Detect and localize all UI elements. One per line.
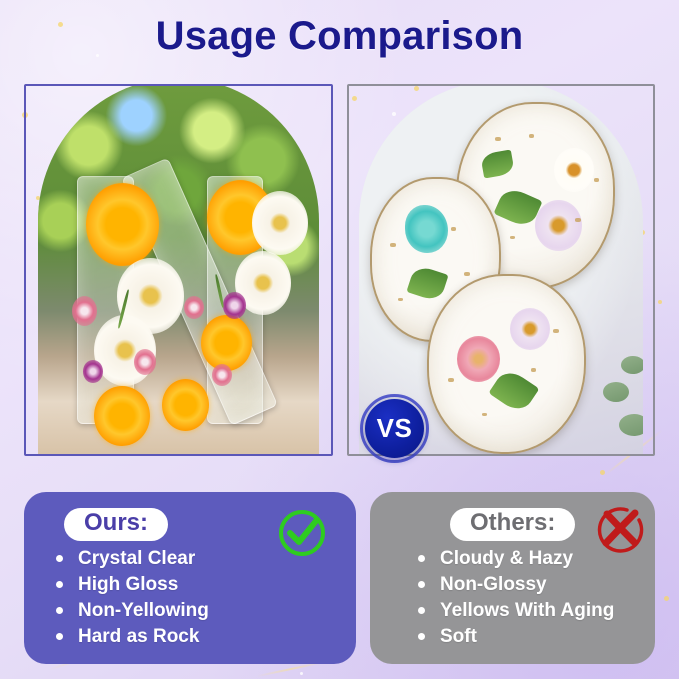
resin-letter-n <box>38 86 319 454</box>
bullet-icon <box>56 555 63 562</box>
list-item: Yellows With Aging <box>418 601 637 620</box>
bullet-icon <box>56 581 63 588</box>
ours-feature-list: Crystal Clear High Gloss Non-Yellowing H… <box>42 549 338 646</box>
resin-coaster <box>427 274 586 454</box>
ours-feature-label: Non-Yellowing <box>78 601 209 620</box>
others-feature-label: Yellows With Aging <box>440 601 614 620</box>
others-heading: Others: <box>450 508 575 541</box>
red-cross-icon <box>591 500 647 556</box>
others-feature-label: Cloudy & Hazy <box>440 549 573 568</box>
others-feature-label: Non-Glossy <box>440 575 547 594</box>
ours-heading: Ours: <box>64 508 168 541</box>
list-item: Hard as Rock <box>56 627 338 646</box>
left-product-photo <box>24 84 333 456</box>
photo-comparison-row: VS <box>24 84 655 456</box>
left-photo-arch <box>38 86 319 454</box>
bullet-icon <box>418 555 425 562</box>
list-item: Non-Yellowing <box>56 601 338 620</box>
green-check-icon <box>274 504 330 560</box>
feature-comparison-cards: Ours: Crystal Clear High Gloss Non-Yello… <box>24 492 655 664</box>
others-feature-list: Cloudy & Hazy Non-Glossy Yellows With Ag… <box>388 549 637 646</box>
ours-card: Ours: Crystal Clear High Gloss Non-Yello… <box>24 492 356 664</box>
list-item: High Gloss <box>56 575 338 594</box>
eucalyptus-sprig <box>619 414 643 436</box>
bullet-icon <box>56 633 63 640</box>
vs-label: VS <box>365 399 424 458</box>
list-item: Soft <box>418 627 637 646</box>
ours-feature-label: Hard as Rock <box>78 627 199 646</box>
bullet-icon <box>418 633 425 640</box>
vs-badge: VS <box>360 394 429 463</box>
others-feature-label: Soft <box>440 627 477 646</box>
list-item: Non-Glossy <box>418 575 637 594</box>
promo-comparison-graphic: Usage Comparison <box>0 0 679 679</box>
ours-feature-label: High Gloss <box>78 575 178 594</box>
ours-feature-label: Crystal Clear <box>78 549 195 568</box>
eucalyptus-sprig <box>603 382 629 402</box>
bullet-icon <box>418 607 425 614</box>
eucalyptus-sprig <box>621 356 643 374</box>
page-title: Usage Comparison <box>0 14 679 59</box>
bullet-icon <box>418 581 425 588</box>
bullet-icon <box>56 607 63 614</box>
others-card: Others: Cloudy & Hazy Non-Glossy Yellows… <box>370 492 655 664</box>
